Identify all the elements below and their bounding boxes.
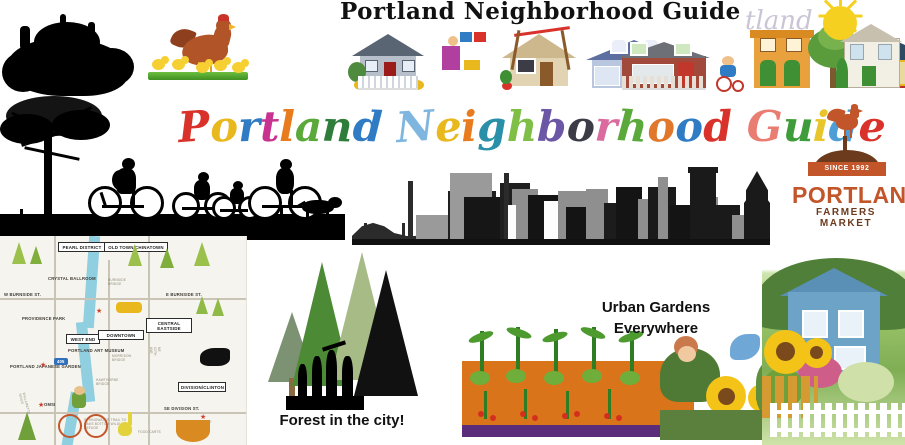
title-letter: o [646,99,678,155]
hen-comb [218,14,229,21]
sunflower-center [776,342,795,361]
blue-house-photo [762,258,905,445]
map-star-icon: ★ [96,308,102,315]
hiker-silhouette [326,350,337,398]
map-street: NE 12TH AVE [149,347,161,357]
sunflower-center [810,346,823,359]
chick [172,59,185,70]
chick [196,62,209,73]
title-letter: g [477,100,507,155]
title-letter: o [208,99,239,154]
map-place: PROVIDENCE PARK [22,316,65,321]
dog-silhouette [296,192,344,220]
cyclists-silhouette-band [0,155,345,240]
title-letter: t [259,100,279,154]
hiker-silhouette [312,356,322,398]
map-cyclist-icon [56,386,108,434]
since-label: SINCE 1992 [808,163,886,175]
portland-farmers-market-logo: SINCE 1992 PORTLAND FARMERS MARKET [792,102,900,228]
hen-and-chicks-clipart [0,0,260,90]
map-label[interactable]: DOWNTOWN [98,330,144,340]
title-letter: b [537,100,567,155]
title-letter: r [593,99,618,154]
child-on-trike-clipart [712,54,748,88]
title-letter: h [507,100,538,154]
bird-icon [116,412,136,442]
house-grey-blue [348,30,426,90]
title-letter: a [295,100,323,154]
title-letter: d [351,99,383,154]
portland-skyline-silhouette [352,160,770,245]
map-street: SE DIVISION ST. [164,406,199,411]
title-letter: P [176,99,211,155]
hiker-silhouette [342,356,353,398]
chick [152,59,165,70]
map-place: CRYSTAL BALLROOM [48,276,96,281]
map-bridge: MORRISON BRIDGE [112,354,138,362]
chick [232,62,245,73]
butterfly-icon [730,334,760,360]
map-bridge: HAWTHORNE BRIDGE [96,378,122,386]
chick [214,60,227,71]
map-bridge: BURNSIDE BRIDGE [108,278,134,286]
forest-ground [286,396,364,410]
title-letter: o [674,99,705,154]
garden-caption-line1: Urban Gardens [586,297,726,318]
portland-neighborhood-collage: Portland Neighborhood Guide [0,0,905,445]
laundry-clipart [438,28,498,78]
swingset-clipart [510,24,580,74]
rooster-icon [828,104,868,138]
cyclist-adult-1 [88,158,160,220]
garden-caption: Urban Gardens Everywhere [586,297,726,339]
title-letter: n [321,99,353,154]
title-letter: r [237,100,261,155]
map-label[interactable]: CENTRAL EASTSIDE [146,318,192,333]
car-icon [116,302,142,313]
window [802,310,828,338]
window [838,310,864,338]
title-letter: i [460,100,478,155]
title-letter: l [279,100,295,154]
hiker-silhouette [298,364,307,398]
map-place: PORTLAND ART MUSEUM [68,348,124,353]
conifer-black [354,270,418,396]
title-letter: h [615,99,649,155]
map-star-icon: ★ [38,402,44,409]
farmers-market-subtitle: FARMERS MARKET [792,207,900,229]
shrub [838,362,894,402]
map-place: OMSI [44,402,56,407]
main-title-colorful: PortlandNeighborhoodGuide [178,100,788,158]
title-letter: N [394,99,436,156]
forest-caption: Forest in the city! [262,409,422,433]
fence-rail [770,410,905,414]
map-label[interactable]: DIVISION/CLINTON [178,382,226,392]
house-brick-storefront [616,32,712,90]
map-poi: FOOD CARTS [138,430,161,434]
pho-bowl-icon [176,420,210,442]
map-street: W BURNSIDE ST. [4,292,41,297]
title-letter: o [566,100,596,155]
map-label[interactable]: WEST END [66,334,100,344]
grass-strip [148,72,248,80]
map-label[interactable]: PEARL DISTRICT [58,242,106,252]
map-river-label: WILLAMETTE RIVER [18,392,28,404]
title-letter: d [702,100,733,155]
title-letter: G [747,100,783,154]
sun-icon [823,6,857,40]
crow-icon [200,348,230,366]
farmers-market-name: PORTLAND [792,182,900,209]
map-highway-shield: 405 [54,358,68,365]
map-star-icon: ★ [40,362,46,369]
illustrated-portland-map[interactable]: PEARL DISTRICT OLD TOWN/CHINATOWN WEST E… [0,236,247,445]
garden-caption-line2: Everywhere [586,318,726,339]
title-letter: e [433,99,463,154]
fence-rail [770,428,905,432]
hen-beak [229,24,236,30]
